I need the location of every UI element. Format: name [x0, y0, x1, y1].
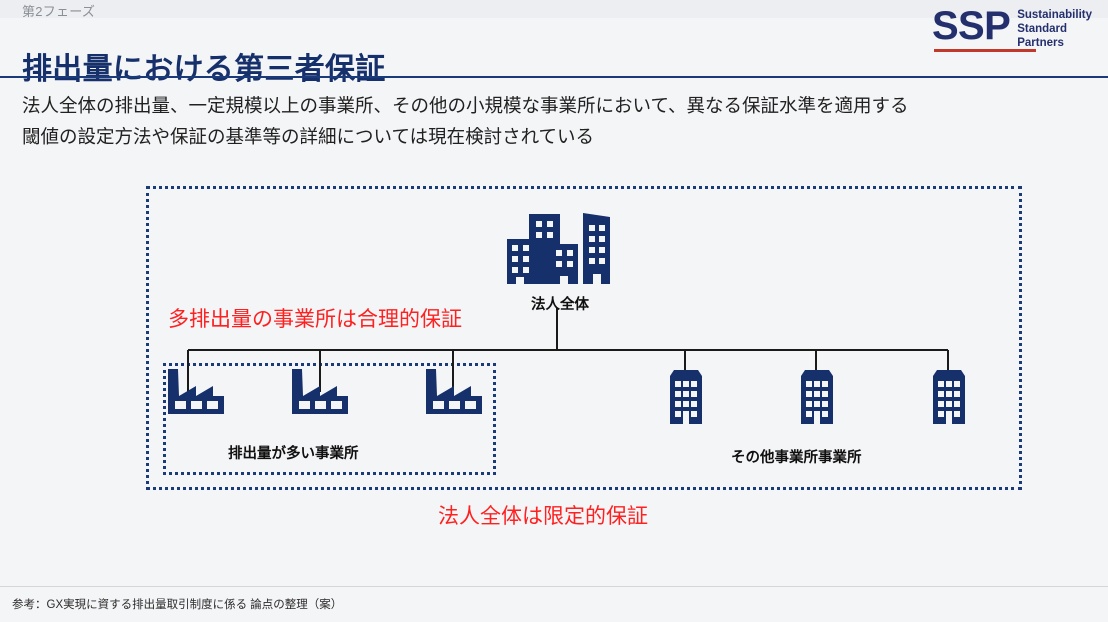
page-title: 排出量における第三者保証 — [22, 44, 386, 88]
node-factory-3[interactable] — [424, 366, 486, 421]
factory-icon — [290, 366, 352, 416]
logo-word-line-1: Sustainability — [1017, 8, 1092, 22]
office-building-icon — [793, 368, 841, 426]
group-label-other-offices: その他事業所事業所 — [731, 446, 862, 467]
node-office-3[interactable] — [925, 368, 973, 431]
node-office-2[interactable] — [793, 368, 841, 431]
lead-line-2: 閾値の設定方法や保証の基準等の詳細については現在検討されている — [22, 121, 1092, 152]
logo-word-line-2: Standard — [1017, 22, 1092, 36]
node-corporate-label: 法人全体 — [490, 293, 630, 314]
office-building-icon — [662, 368, 710, 426]
footer-divider — [0, 586, 1108, 587]
city-buildings-icon — [490, 206, 630, 284]
title-divider — [0, 76, 1108, 78]
source-note: 参考：GX実現に資する排出量取引制度に係る 論点の整理（案） — [12, 596, 342, 612]
annotation-reasonable-assurance: 多排出量の事業所は合理的保証 — [168, 303, 462, 333]
office-building-icon — [925, 368, 973, 426]
node-factory-1[interactable] — [166, 366, 228, 421]
logo-underline — [934, 49, 1036, 52]
node-office-1[interactable] — [662, 368, 710, 431]
lead-line-1: 法人全体の排出量、一定規模以上の事業所、その他の小規模な事業所において、異なる保… — [22, 90, 1092, 121]
group-label-high-emitters: 排出量が多い事業所 — [228, 442, 359, 463]
factory-icon — [166, 366, 228, 416]
node-factory-2[interactable] — [290, 366, 352, 421]
annotation-limited-assurance: 法人全体は限定的保証 — [438, 500, 648, 530]
phase-label: 第2フェーズ — [22, 1, 95, 20]
factory-icon — [424, 366, 486, 416]
logo-wordmark: Sustainability Standard Partners — [1017, 8, 1092, 50]
node-corporate[interactable]: 法人全体 — [490, 206, 630, 314]
logo-mark-text: SSP — [932, 6, 1010, 46]
logo-word-line-3: Partners — [1017, 36, 1092, 50]
logo-mark-wrap: SSP — [932, 6, 1010, 52]
lead-paragraph: 法人全体の排出量、一定規模以上の事業所、その他の小規模な事業所において、異なる保… — [22, 90, 1092, 152]
ssp-logo: SSP Sustainability Standard Partners — [932, 6, 1092, 52]
